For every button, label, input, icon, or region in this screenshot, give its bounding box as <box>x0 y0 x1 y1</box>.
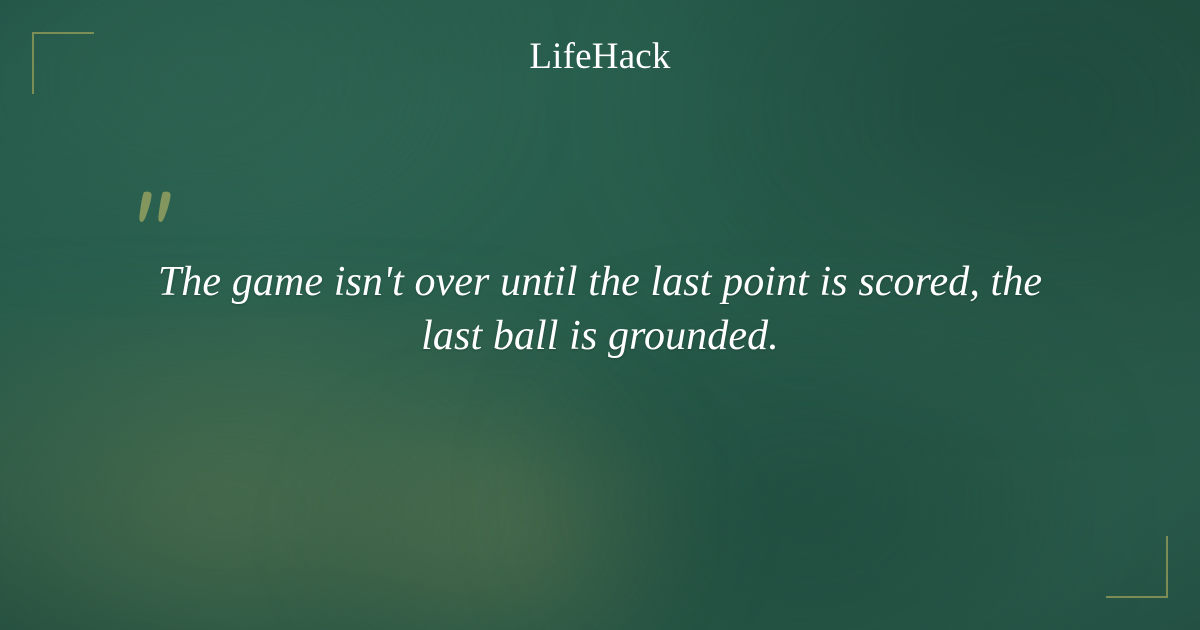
brand-logo-text: LifeHack <box>529 38 670 75</box>
quote-container: The game isn't over until the last point… <box>130 188 1070 364</box>
quote-text: The game isn't over until the last point… <box>130 256 1070 364</box>
brand-header: LifeHack <box>0 38 1200 75</box>
quote-card: LifeHack The game isn't over until the l… <box>0 0 1200 630</box>
quotation-mark-icon <box>134 188 180 240</box>
corner-bracket-bottom-right-icon <box>1106 536 1168 598</box>
